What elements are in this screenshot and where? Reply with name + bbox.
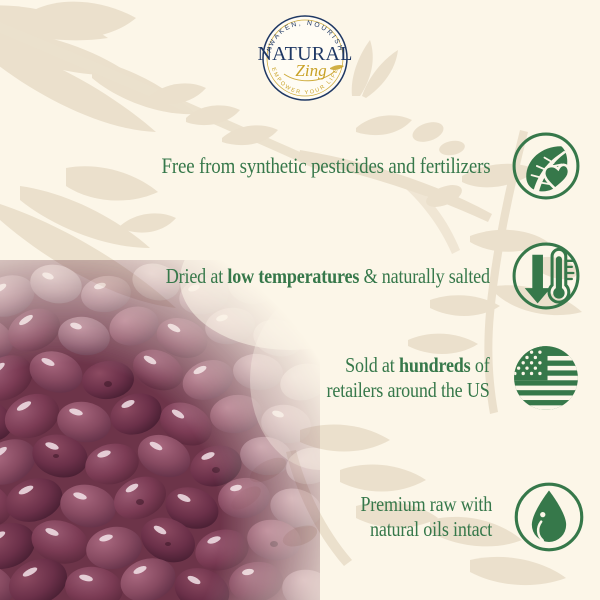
claim-retailers: Sold at hundreds of retailers around the… <box>0 340 584 416</box>
oil-droplet-icon <box>510 478 588 556</box>
claim-premium-raw: Premium raw with natural oils intact <box>0 478 588 556</box>
claim-pesticide-free: Free from synthetic pesticides and ferti… <box>0 128 584 204</box>
leaf-heart-icon <box>508 128 584 204</box>
us-flag-icon <box>508 340 584 416</box>
logo-script-word: Zing <box>295 61 326 80</box>
emphasised-text: hundreds <box>399 353 471 377</box>
brand-logo[interactable]: AWAKEN, NOURISH EMPOWER YOUR LIFE NATURA… <box>255 8 355 108</box>
claim-low-temperature-text: Dried at low temperatures & naturally sa… <box>166 264 490 289</box>
claim-premium-raw-text: Premium raw with natural oils intact <box>360 492 492 542</box>
claim-low-temperature: Dried at low temperatures & naturally sa… <box>0 238 584 314</box>
infographic-canvas: AWAKEN, NOURISH EMPOWER YOUR LIFE NATURA… <box>0 0 600 600</box>
claim-pesticide-free-text: Free from synthetic pesticides and ferti… <box>161 153 490 179</box>
claim-retailers-text: Sold at hundreds of retailers around the… <box>327 353 490 403</box>
emphasised-text: low temperatures <box>228 264 360 288</box>
low-temperature-thermometer-icon <box>508 238 584 314</box>
